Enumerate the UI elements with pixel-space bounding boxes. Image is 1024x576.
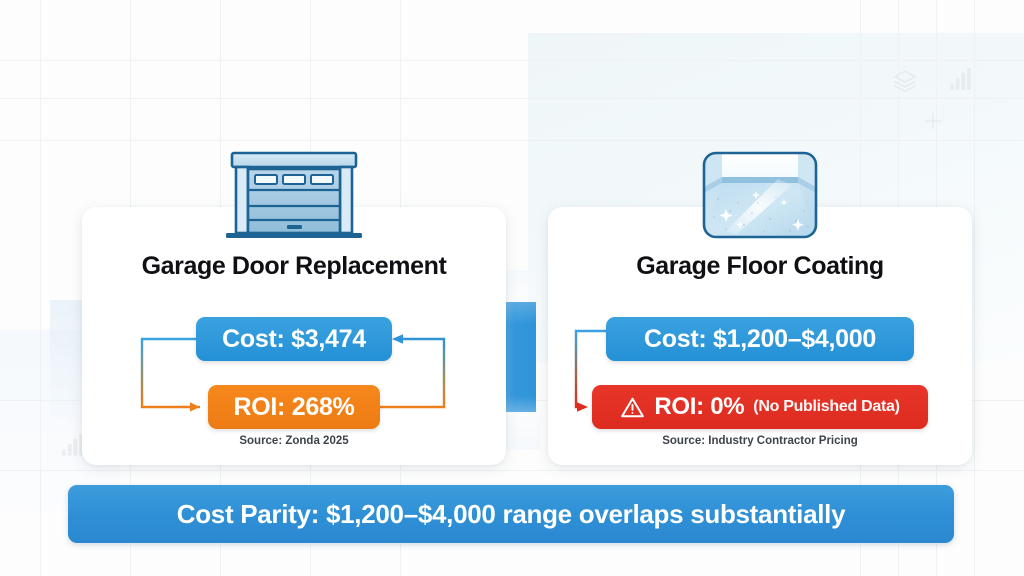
cost-pill[interactable]: Cost: $3,474: [196, 317, 392, 361]
card-garage-floor-coating[interactable]: Garage Floor Coating Cost: $1,200–$4,000: [548, 207, 972, 465]
roi-pill-label: ROI: 0%: [654, 393, 744, 421]
layers-icon: [892, 68, 918, 94]
plus-icon: [922, 110, 944, 132]
garage-floor-coating-icon: [548, 147, 972, 243]
warning-triangle-icon: [620, 395, 645, 420]
garage-door-icon: [82, 147, 506, 243]
bar-chart-icon: [948, 66, 974, 92]
card-title: Garage Floor Coating: [548, 252, 972, 281]
cost-parity-banner: Cost Parity: $1,200–$4,000 range overlap…: [68, 485, 954, 543]
cost-pill[interactable]: Cost: $1,200–$4,000: [606, 317, 914, 361]
card-title: Garage Door Replacement: [82, 252, 506, 281]
center-connecting-band: [503, 302, 536, 412]
roi-pill[interactable]: ROI: 0% (No Published Data): [592, 385, 928, 429]
source-note: Source: Zonda 2025: [82, 435, 506, 447]
roi-pill[interactable]: ROI: 268%: [208, 385, 380, 429]
roi-pill-sublabel: (No Published Data): [753, 398, 899, 416]
roi-pill-label: ROI: 268%: [234, 393, 355, 422]
cost-pill-label: Cost: $3,474: [222, 325, 366, 354]
source-note: Source: Industry Contractor Pricing: [548, 435, 972, 447]
cost-parity-banner-label: Cost Parity: $1,200–$4,000 range overlap…: [177, 499, 846, 530]
infographic-stage: Garage Door Replacement Cost: $3,474 ROI…: [0, 0, 1024, 576]
card-garage-door-replacement[interactable]: Garage Door Replacement Cost: $3,474 ROI…: [82, 207, 506, 465]
cost-pill-label: Cost: $1,200–$4,000: [644, 325, 876, 354]
